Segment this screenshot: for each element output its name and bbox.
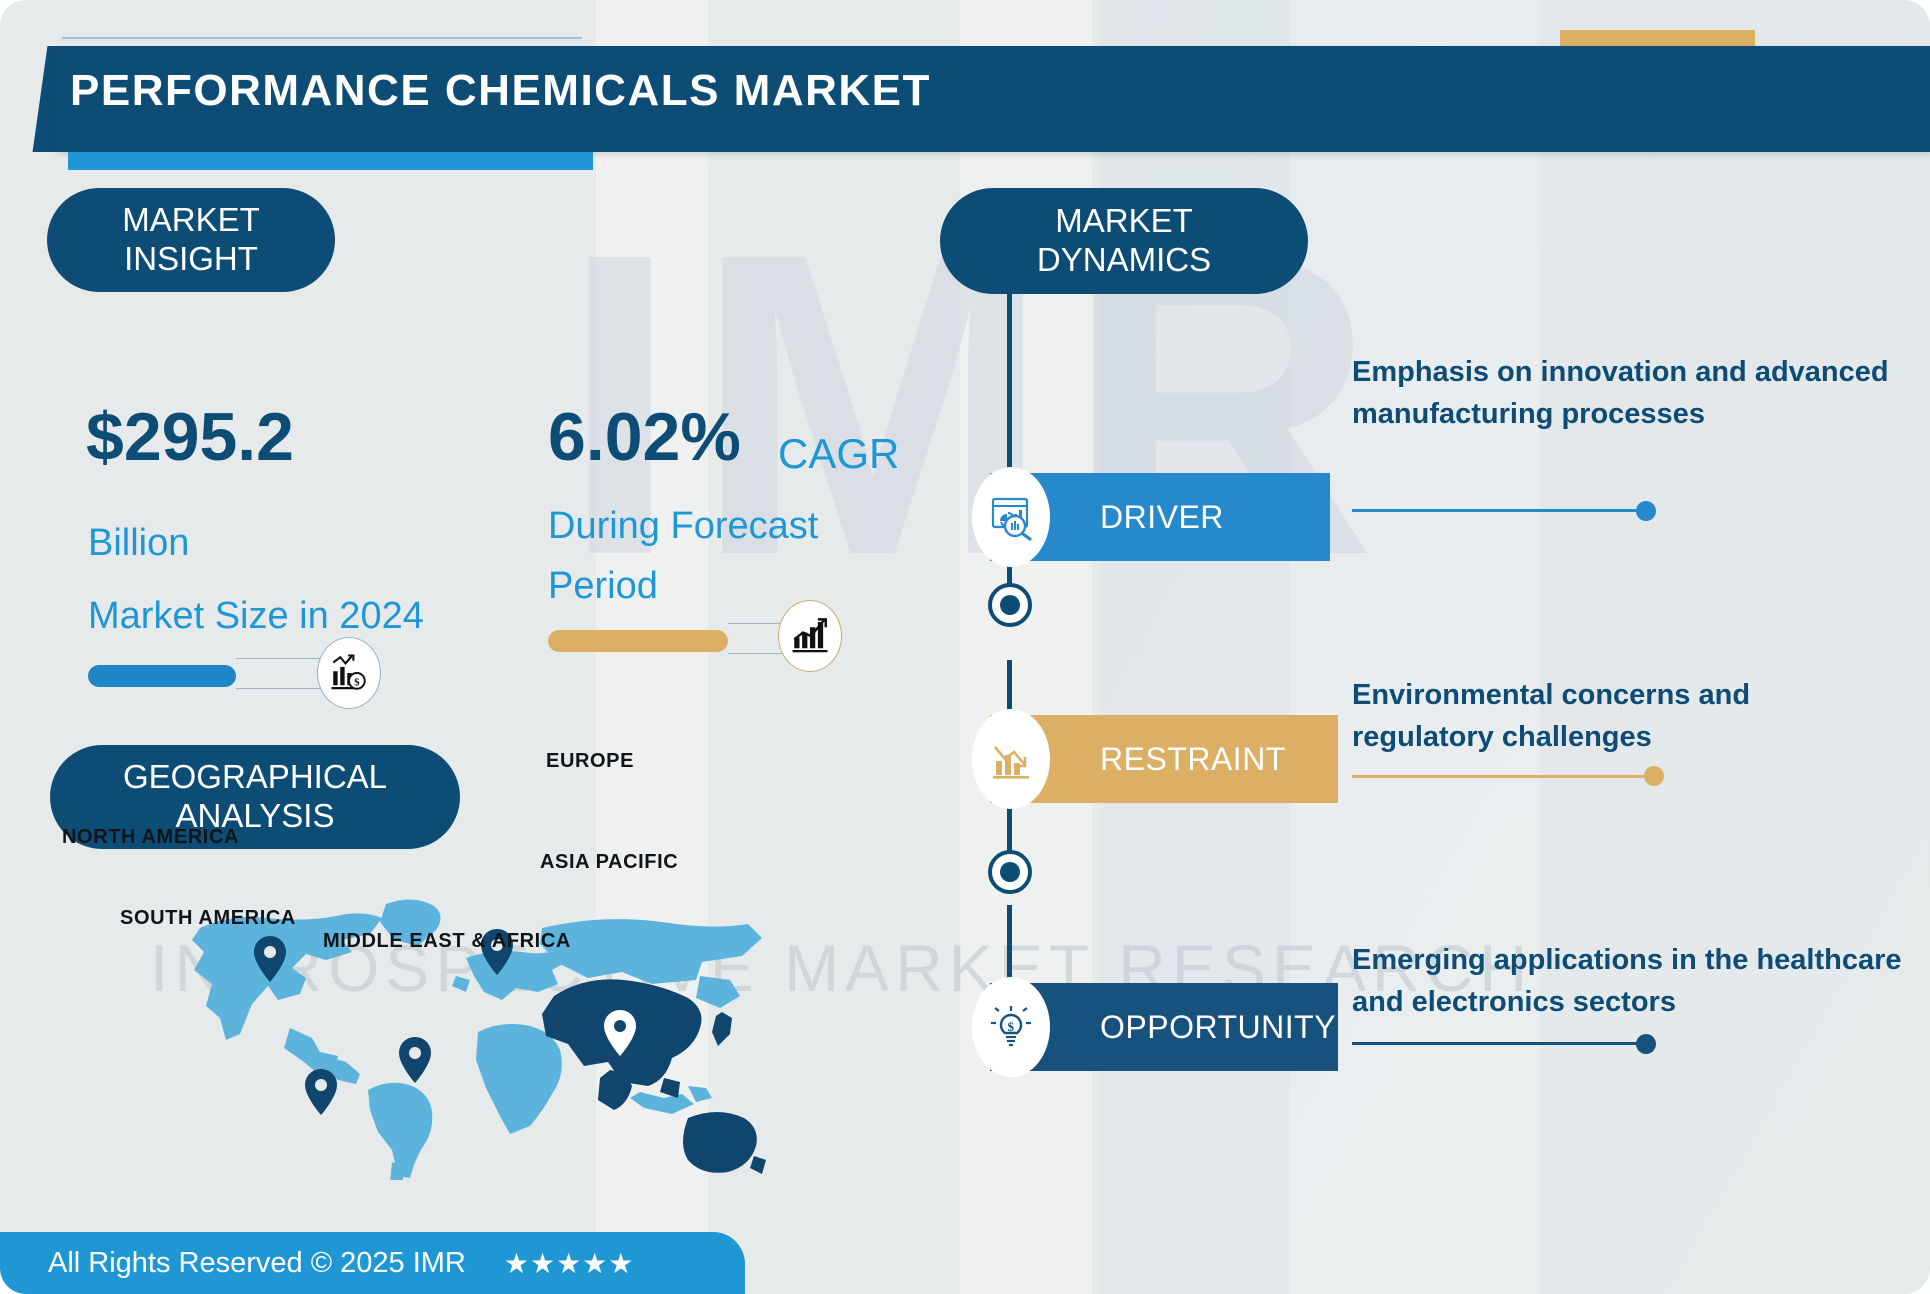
map-label-north-america: NORTH AMERICA	[62, 826, 239, 849]
driver-connector	[1352, 509, 1642, 512]
market-size-value: $295.2	[86, 398, 294, 476]
map-pin	[399, 1037, 431, 1083]
background-band	[1290, 0, 1540, 1294]
map-label-middle-east-africa: MIDDLE EAST & AFRICA	[323, 930, 571, 953]
lightbulb-dollar-icon: $	[972, 977, 1050, 1077]
opportunity-label: OPPORTUNITY	[1100, 1009, 1336, 1046]
map-pin	[305, 1069, 337, 1115]
cagr-suffix-label: CAGR	[778, 430, 899, 478]
restraint-bar[interactable]: RESTRAINT	[990, 715, 1338, 803]
restraint-label: RESTRAINT	[1100, 741, 1286, 778]
opportunity-bar[interactable]: $ OPPORTUNITY	[990, 983, 1338, 1071]
rating-stars: ★★★★★	[504, 1247, 635, 1280]
opportunity-connector	[1352, 1042, 1642, 1045]
dynamics-pill-line2: DYNAMICS	[1037, 241, 1211, 280]
geo-pill-line1: GEOGRAPHICAL	[123, 758, 387, 797]
map-label-south-america: SOUTH AMERICA	[120, 907, 296, 930]
meter-leader-line	[236, 688, 324, 689]
driver-label: DRIVER	[1100, 499, 1224, 536]
infographic-canvas: IMR INTROSPECTIVE MARKET RESEARCH PERFOR…	[0, 0, 1930, 1294]
cagr-sub-line1: During Forecast	[548, 505, 818, 548]
market-insight-pill-line2: INSIGHT	[122, 240, 260, 279]
opportunity-endpoint-dot	[1636, 1034, 1656, 1054]
cagr-meter	[548, 630, 728, 652]
svg-text:$: $	[1008, 1019, 1015, 1034]
declining-bar-chart-icon	[972, 709, 1050, 809]
timeline-node	[988, 583, 1032, 627]
restraint-endpoint-dot	[1644, 766, 1664, 786]
header-thin-rule	[62, 37, 582, 39]
market-size-unit: Billion	[88, 522, 189, 565]
driver-description: Emphasis on innovation and advanced manu…	[1352, 352, 1892, 436]
timeline-spine	[1007, 905, 1012, 985]
market-insight-pill: MARKET INSIGHT	[47, 188, 335, 292]
bar-chart-dollar-icon: $	[317, 637, 381, 709]
opportunity-description: Emerging applications in the healthcare …	[1352, 940, 1930, 1024]
growth-arrow-chart-icon	[778, 600, 842, 672]
restraint-description: Environmental concerns and regulatory ch…	[1352, 675, 1892, 759]
market-size-meter	[88, 665, 236, 687]
restraint-connector	[1352, 775, 1650, 778]
driver-endpoint-dot	[1636, 501, 1656, 521]
market-insight-pill-line1: MARKET	[122, 201, 260, 240]
footer-bar: All Rights Reserved © 2025 IMR ★★★★★	[0, 1232, 745, 1294]
svg-text:$: $	[354, 677, 359, 688]
map-label-europe: EUROPE	[546, 750, 634, 773]
market-dynamics-pill: MARKET DYNAMICS	[940, 188, 1308, 294]
timeline-spine	[1007, 292, 1012, 472]
market-size-label: Market Size in 2024	[88, 595, 424, 638]
copyright-text: All Rights Reserved © 2025 IMR	[48, 1247, 466, 1280]
meter-leader-line	[236, 658, 324, 659]
page-title: PERFORMANCE CHEMICALS MARKET	[70, 66, 931, 116]
cagr-value: 6.02%	[548, 398, 741, 476]
header-underbar	[68, 152, 593, 170]
driver-bar[interactable]: DRIVER	[990, 473, 1330, 561]
timeline-node	[988, 850, 1032, 894]
cagr-sub-line2: Period	[548, 565, 658, 608]
map-label-asia-pacific: ASIA PACIFIC	[540, 851, 678, 874]
report-analysis-magnifier-icon	[972, 467, 1050, 567]
dynamics-pill-line1: MARKET	[1037, 202, 1211, 241]
